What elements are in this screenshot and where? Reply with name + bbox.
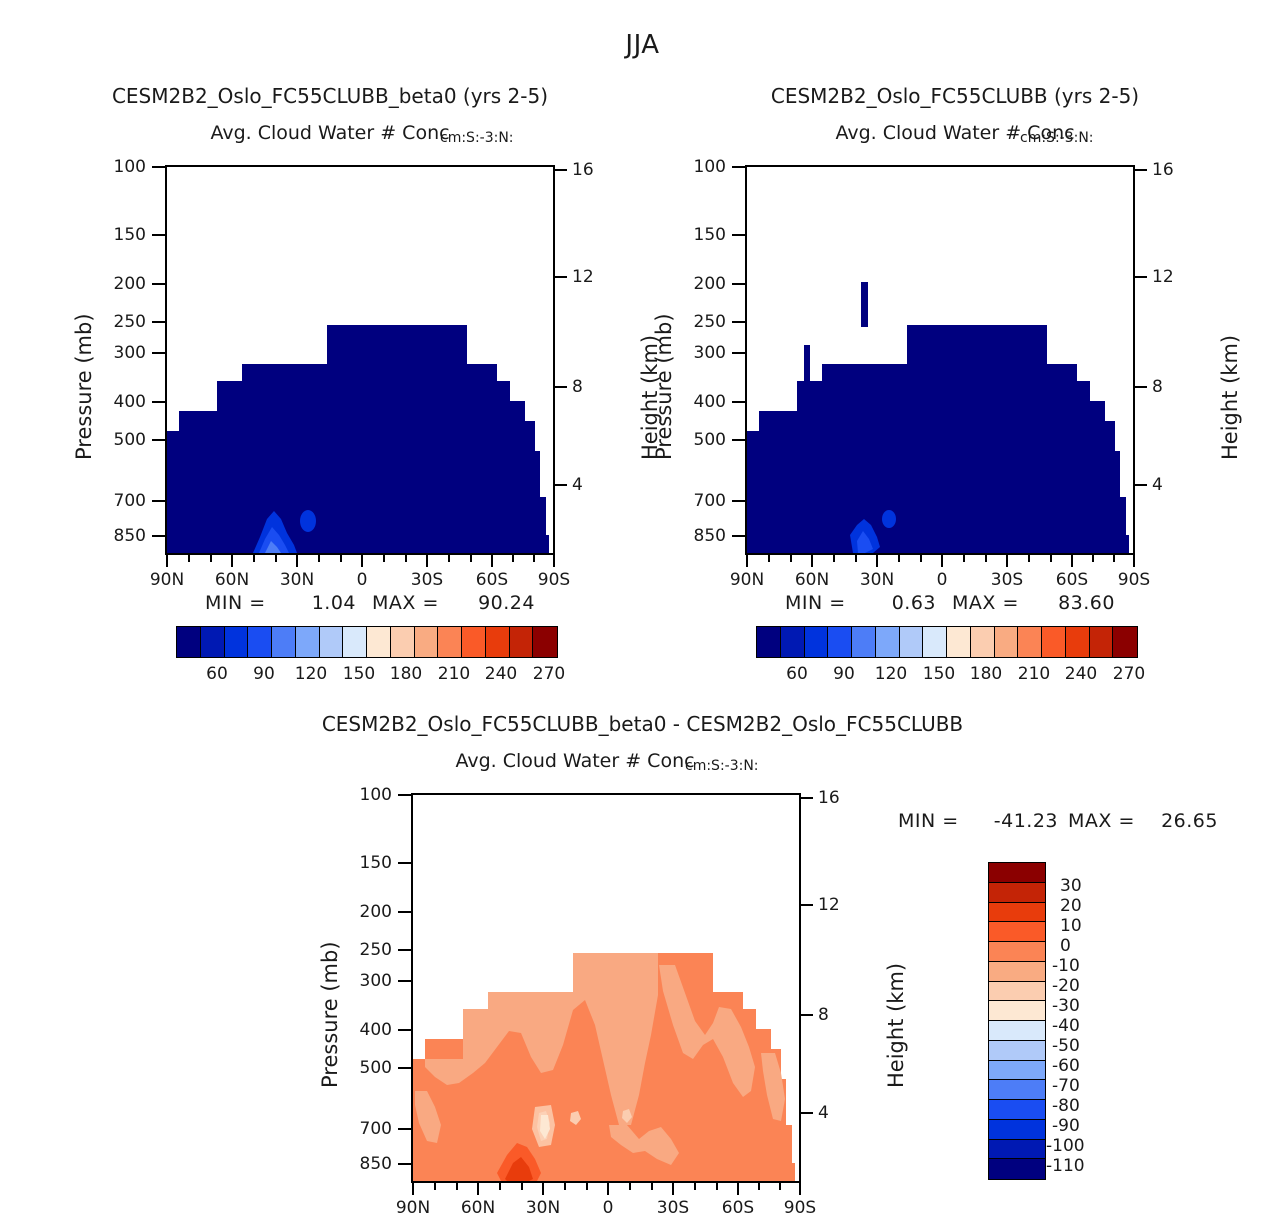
colorbar-tick-label: -100 (1046, 1136, 1085, 1156)
ytick-bottom-diff (398, 911, 411, 913)
ytick-top-left (152, 439, 165, 441)
max-label-top-left: MAX = (372, 592, 439, 614)
ytick-label: 850 (342, 1154, 392, 1174)
y2tick-bottom-diff (801, 797, 813, 799)
colorbar-tick-label: 60 (772, 664, 822, 684)
colorbar-cell (438, 627, 462, 657)
xtick-bottom-diff (607, 1183, 609, 1195)
y2tick-top-left (555, 276, 567, 278)
ytick-label: 850 (676, 526, 726, 546)
colorbar-cell (989, 1080, 1045, 1100)
ytick-bottom-diff (398, 1128, 411, 1130)
xtick-minor (275, 555, 277, 562)
xtick-label: 90N (721, 570, 773, 590)
xtick-minor (1050, 555, 1052, 562)
ytick-top-right (732, 500, 745, 502)
colorbar-tick-label: -110 (1046, 1156, 1085, 1176)
colorbar-cell (947, 627, 971, 657)
colorbar-tick-label: 10 (1060, 916, 1082, 936)
colorbar-cell (876, 627, 900, 657)
colorbar-cell (367, 627, 391, 657)
ytick-label: 500 (96, 430, 146, 450)
colorbar-cell (1018, 627, 1042, 657)
xtick-label: 30S (981, 570, 1033, 590)
colorbar-horizontal-top-left[interactable] (176, 626, 558, 658)
y2tick-bottom-diff (801, 904, 813, 906)
ytick-label: 400 (342, 1020, 392, 1040)
colorbar-cell (852, 627, 876, 657)
ytick-label: 100 (342, 785, 392, 805)
y-axis-label-top-right: Pressure (mb) (652, 313, 676, 460)
colorbar-cell (989, 1041, 1045, 1061)
xtick-minor (651, 1183, 653, 1190)
colorbar-cell (1066, 627, 1090, 657)
xtick-minor (855, 555, 857, 562)
colorbar-cell (805, 627, 829, 657)
contour-field-top-left (167, 167, 553, 553)
ytick-top-left (152, 535, 165, 537)
colorbar-cell (995, 627, 1019, 657)
xtick-minor (383, 555, 385, 562)
contour-field-bottom-diff (413, 795, 799, 1181)
ytick-label: 200 (676, 274, 726, 294)
xtick-minor (1028, 555, 1030, 562)
colorbar-horizontal-top-right[interactable] (756, 626, 1138, 658)
ytick-top-left (152, 401, 165, 403)
ytick-top-left (152, 500, 165, 502)
min-label-bottom-diff: MIN = (898, 810, 959, 832)
ytick-bottom-diff (398, 794, 411, 796)
panel-subtitle-top-left: Avg. Cloud Water # Conc (0, 122, 660, 144)
colorbar-cell (757, 627, 781, 657)
ytick-label: 200 (96, 274, 146, 294)
xtick-minor (1113, 555, 1115, 562)
colorbar-cell (900, 627, 924, 657)
xtick-minor (920, 555, 922, 562)
ytick-top-left (152, 234, 165, 236)
y2tick-bottom-diff (801, 1112, 813, 1114)
y2tick-bottom-diff (801, 1014, 813, 1016)
colorbar-cell (989, 962, 1045, 982)
colorbar-tick-label: 90 (239, 664, 289, 684)
colorbar-cell (225, 627, 249, 657)
colorbar-tick-label: 240 (1056, 664, 1106, 684)
xtick-minor (963, 555, 965, 562)
colorbar-cell (989, 1140, 1045, 1160)
xtick-label: 30N (851, 570, 903, 590)
ytick-top-right (732, 283, 745, 285)
colorbar-cell (296, 627, 320, 657)
colorbar-cell (989, 1001, 1045, 1021)
xtick-label: 0 (336, 570, 388, 590)
plot-area-bottom-diff (411, 793, 801, 1183)
colorbar-tick-label: 270 (524, 664, 574, 684)
colorbar-tick-label: 270 (1104, 664, 1154, 684)
colorbar-tick-label: -70 (1052, 1076, 1080, 1096)
colorbar-tick-label: 180 (961, 664, 1011, 684)
ytick-label: 200 (342, 902, 392, 922)
colorbar-tick-label: -90 (1052, 1116, 1080, 1136)
max-label-bottom-diff: MAX = (1068, 810, 1135, 832)
ytick-top-left (152, 166, 165, 168)
ytick-top-right (732, 439, 745, 441)
ytick-label: 400 (676, 392, 726, 412)
colorbar-tick-label: -20 (1052, 976, 1080, 996)
y2tick-top-right (1135, 169, 1147, 171)
colorbar-cell (462, 627, 486, 657)
colorbar-cell (989, 863, 1045, 883)
panel-title-top-left: CESM2B2_Oslo_FC55CLUBB_beta0 (yrs 2-5) (0, 84, 660, 108)
panel-title-top-right: CESM2B2_Oslo_FC55CLUBB (yrs 2-5) (625, 84, 1285, 108)
xtick-top-right (876, 555, 878, 567)
xtick-label: 90N (387, 1198, 439, 1218)
colorbar-cell (989, 982, 1045, 1002)
panel-units-top-left: cm:S:-3:N: (440, 130, 514, 146)
y2-axis-label-bottom-diff: Height (km) (884, 963, 908, 1088)
xtick-minor (456, 1183, 458, 1190)
xtick-minor (499, 1183, 501, 1190)
colorbar-cell (343, 627, 367, 657)
colorbar-cell (781, 627, 805, 657)
ytick-top-right (732, 352, 745, 354)
colorbar-tick-label: 180 (381, 664, 431, 684)
xtick-minor (833, 555, 835, 562)
colorbar-cell (989, 942, 1045, 962)
y2tick-label: 16 (572, 160, 594, 180)
y2tick-label: 4 (1152, 475, 1163, 495)
xtick-label: 60S (712, 1198, 764, 1218)
colorbar-cell (320, 627, 344, 657)
colorbar-cell (415, 627, 439, 657)
ytick-label: 850 (96, 526, 146, 546)
ytick-label: 150 (342, 853, 392, 873)
xtick-minor (629, 1183, 631, 1190)
ytick-label: 300 (676, 343, 726, 363)
ytick-label: 700 (676, 491, 726, 511)
colorbar-cell (989, 1120, 1045, 1140)
colorbar-cell (486, 627, 510, 657)
xtick-top-right (1133, 555, 1135, 567)
ytick-top-right (732, 166, 745, 168)
colorbar-cell (201, 627, 225, 657)
ytick-label: 700 (96, 491, 146, 511)
colorbar-tick-label: -80 (1052, 1096, 1080, 1116)
xtick-top-left (231, 555, 233, 567)
colorbar-tick-label: 60 (192, 664, 242, 684)
y2tick-label: 8 (1152, 377, 1163, 397)
colorbar-cell (989, 1061, 1045, 1081)
colorbar-tick-label: 210 (1009, 664, 1059, 684)
xtick-minor (210, 555, 212, 562)
xtick-minor (985, 555, 987, 562)
ytick-top-left (152, 283, 165, 285)
y-axis-label-bottom-diff: Pressure (mb) (318, 941, 342, 1088)
colorbar-cell (272, 627, 296, 657)
y2tick-label: 8 (818, 1005, 829, 1025)
xtick-minor (564, 1183, 566, 1190)
min-value-top-left: 1.04 (288, 592, 356, 614)
plot-area-top-right (745, 165, 1135, 555)
ytick-bottom-diff (398, 1029, 411, 1031)
ytick-label: 150 (676, 225, 726, 245)
xtick-minor (790, 555, 792, 562)
colorbar-vertical-diff[interactable] (988, 862, 1046, 1180)
xtick-minor (779, 1183, 781, 1190)
xtick-minor (512, 555, 514, 562)
y2tick-label: 12 (572, 267, 594, 287)
colorbar-cell (989, 883, 1045, 903)
y2tick-top-left (555, 169, 567, 171)
colorbar-cell (989, 1159, 1045, 1179)
xtick-label: 90N (141, 570, 193, 590)
ytick-top-left (152, 321, 165, 323)
colorbar-cell (1090, 627, 1114, 657)
panel-subtitle-bottom-diff: Avg. Cloud Water # Conc (245, 750, 905, 772)
colorbar-cell (1113, 627, 1137, 657)
xtick-top-left (296, 555, 298, 567)
ytick-label: 400 (96, 392, 146, 412)
xtick-label: 60N (786, 570, 838, 590)
xtick-label: 0 (582, 1198, 634, 1218)
xtick-minor (716, 1183, 718, 1190)
xtick-top-left (166, 555, 168, 567)
xtick-top-left (491, 555, 493, 567)
figure-season-title: JJA (0, 30, 1285, 60)
y2-axis-label-top-right: Height (km) (1218, 335, 1242, 460)
ytick-bottom-diff (398, 1163, 411, 1165)
colorbar-tick-label: 120 (286, 664, 336, 684)
xtick-minor (434, 1183, 436, 1190)
xtick-label: 60S (466, 570, 518, 590)
ytick-label: 300 (96, 343, 146, 363)
panel-subtitle-top-right: Avg. Cloud Water # Conc (625, 122, 1285, 144)
xtick-minor (188, 555, 190, 562)
xtick-bottom-diff (737, 1183, 739, 1195)
ytick-label: 500 (676, 430, 726, 450)
colorbar-tick-label: -30 (1052, 996, 1080, 1016)
colorbar-tick-label: -40 (1052, 1016, 1080, 1036)
xtick-minor (253, 555, 255, 562)
ytick-bottom-diff (398, 980, 411, 982)
colorbar-cell (391, 627, 415, 657)
contour-field-top-right (747, 167, 1133, 553)
xtick-label: 30N (271, 570, 323, 590)
xtick-top-right (811, 555, 813, 567)
xtick-top-right (1006, 555, 1008, 567)
colorbar-tick-label: 30 (1060, 876, 1082, 896)
xtick-minor (405, 555, 407, 562)
y2tick-top-right (1135, 484, 1147, 486)
xtick-minor (318, 555, 320, 562)
xtick-bottom-diff (477, 1183, 479, 1195)
xtick-top-right (746, 555, 748, 567)
colorbar-tick-label: 20 (1060, 896, 1082, 916)
xtick-label: 0 (916, 570, 968, 590)
colorbar-cell (177, 627, 201, 657)
colorbar-tick-label: 210 (429, 664, 479, 684)
ytick-bottom-diff (398, 862, 411, 864)
y2tick-label: 4 (572, 475, 583, 495)
y2tick-label: 12 (1152, 267, 1174, 287)
xtick-minor (768, 555, 770, 562)
ytick-bottom-diff (398, 1067, 411, 1069)
ytick-label: 300 (342, 971, 392, 991)
xtick-minor (898, 555, 900, 562)
xtick-minor (533, 555, 535, 562)
ytick-bottom-diff (398, 949, 411, 951)
xtick-label: 30S (647, 1198, 699, 1218)
xtick-label: 30N (517, 1198, 569, 1218)
ytick-top-left (152, 352, 165, 354)
xtick-bottom-diff (672, 1183, 674, 1195)
xtick-label: 90S (774, 1198, 826, 1218)
colorbar-cell (828, 627, 852, 657)
colorbar-cell (989, 1100, 1045, 1120)
colorbar-tick-label: -60 (1052, 1056, 1080, 1076)
ytick-label: 700 (342, 1119, 392, 1139)
ytick-top-right (732, 321, 745, 323)
colorbar-cell (971, 627, 995, 657)
colorbar-tick-label: -10 (1052, 956, 1080, 976)
xtick-top-left (361, 555, 363, 567)
ytick-label: 100 (96, 157, 146, 177)
colorbar-cell (510, 627, 534, 657)
ytick-label: 100 (676, 157, 726, 177)
panel-units-top-right: cm:S:-3:N: (1020, 130, 1094, 146)
xtick-minor (1092, 555, 1094, 562)
xtick-top-right (941, 555, 943, 567)
min-label-top-right: MIN = (785, 592, 846, 614)
y2tick-label: 16 (1152, 160, 1174, 180)
xtick-label: 60N (206, 570, 258, 590)
colorbar-cell (533, 627, 557, 657)
max-label-top-right: MAX = (952, 592, 1019, 614)
xtick-top-left (426, 555, 428, 567)
colorbar-cell (1042, 627, 1066, 657)
xtick-minor (470, 555, 472, 562)
xtick-bottom-diff (542, 1183, 544, 1195)
y2tick-top-right (1135, 276, 1147, 278)
min-label-top-left: MIN = (205, 592, 266, 614)
ytick-label: 250 (676, 312, 726, 332)
colorbar-tick-label: 150 (334, 664, 384, 684)
xtick-minor (586, 1183, 588, 1190)
ytick-top-right (732, 234, 745, 236)
colorbar-cell (989, 922, 1045, 942)
colorbar-tick-label: 0 (1060, 936, 1071, 956)
colorbar-tick-label: 120 (866, 664, 916, 684)
colorbar-tick-label: 240 (476, 664, 526, 684)
y-axis-label-top-left: Pressure (mb) (72, 313, 96, 460)
xtick-label: 90S (528, 570, 580, 590)
colorbar-tick-label: 90 (819, 664, 869, 684)
xtick-minor (521, 1183, 523, 1190)
min-value-top-right: 0.63 (868, 592, 936, 614)
xtick-minor (758, 1183, 760, 1190)
xtick-label: 60S (1046, 570, 1098, 590)
xtick-top-left (553, 555, 555, 567)
y2tick-label: 12 (818, 895, 840, 915)
max-value-top-left: 90.24 (455, 592, 535, 614)
y2tick-label: 16 (818, 788, 840, 808)
ytick-label: 150 (96, 225, 146, 245)
ytick-top-right (732, 401, 745, 403)
max-value-top-right: 83.60 (1035, 592, 1115, 614)
ytick-top-right (732, 535, 745, 537)
xtick-bottom-diff (412, 1183, 414, 1195)
xtick-label: 90S (1108, 570, 1160, 590)
xtick-minor (448, 555, 450, 562)
y2tick-label: 4 (818, 1103, 829, 1123)
colorbar-cell (923, 627, 947, 657)
xtick-label: 30S (401, 570, 453, 590)
xtick-label: 60N (452, 1198, 504, 1218)
xtick-minor (340, 555, 342, 562)
colorbar-cell (989, 1021, 1045, 1041)
colorbar-cell (248, 627, 272, 657)
panel-units-bottom-diff: cm:S:-3:N: (685, 758, 759, 774)
y2tick-top-left (555, 484, 567, 486)
ytick-label: 500 (342, 1058, 392, 1078)
panel-title-bottom-diff: CESM2B2_Oslo_FC55CLUBB_beta0 - CESM2B2_O… (0, 712, 1285, 736)
colorbar-cell (989, 903, 1045, 923)
min-value-bottom-diff: -41.23 (968, 810, 1058, 832)
xtick-top-right (1071, 555, 1073, 567)
colorbar-tick-label: -50 (1052, 1036, 1080, 1056)
ytick-label: 250 (96, 312, 146, 332)
xtick-minor (694, 1183, 696, 1190)
ytick-label: 250 (342, 940, 392, 960)
y2tick-top-left (555, 386, 567, 388)
xtick-bottom-diff (799, 1183, 801, 1195)
colorbar-tick-label: 150 (914, 664, 964, 684)
plot-area-top-left (165, 165, 555, 555)
y2tick-top-right (1135, 386, 1147, 388)
max-value-bottom-diff: 26.65 (1138, 810, 1218, 832)
y2tick-label: 8 (572, 377, 583, 397)
